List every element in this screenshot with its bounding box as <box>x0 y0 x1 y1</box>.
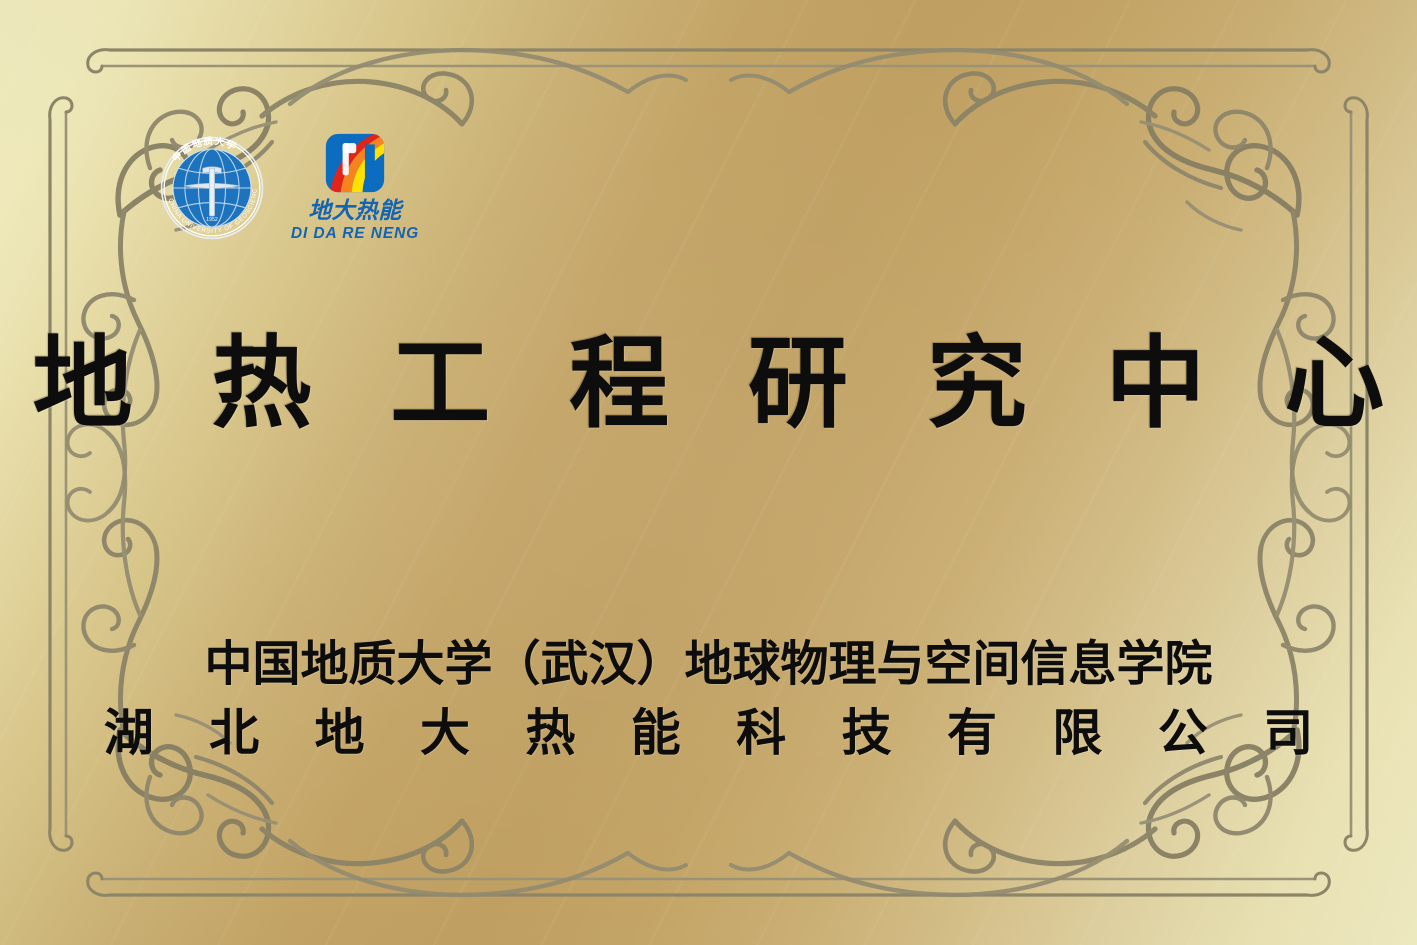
cug-emblem-icon: 中国地质大学 CHINA UNIVERSITY OF GEOSCIENCES 1… <box>160 136 264 240</box>
subtitle-institute: 中国地质大学（武汉）地球物理与空间信息学院 <box>0 636 1417 693</box>
didareneng-chinese-name-icon: 地大热能 <box>286 195 424 225</box>
didareneng-logo: 地大热能 DI DA RE NENG <box>286 132 424 242</box>
page-title: 地 热 工 程 研 究 中 心 <box>0 330 1417 438</box>
subtitle-company: 湖 北 地 大 热 能 科 技 有 限 公 司 <box>0 703 1417 763</box>
svg-text:地大热能: 地大热能 <box>308 198 404 224</box>
svg-text:1952: 1952 <box>206 217 218 223</box>
logo-row: 中国地质大学 CHINA UNIVERSITY OF GEOSCIENCES 1… <box>160 134 424 242</box>
plaque-content: 中国地质大学 CHINA UNIVERSITY OF GEOSCIENCES 1… <box>0 0 1417 945</box>
didareneng-pinyin-label: DI DA RE NENG <box>291 226 419 242</box>
subtitle-block: 中国地质大学（武汉）地球物理与空间信息学院 湖 北 地 大 热 能 科 技 有 … <box>0 636 1417 763</box>
didareneng-mark-icon <box>324 132 386 194</box>
award-plaque: 中国地质大学 CHINA UNIVERSITY OF GEOSCIENCES 1… <box>0 0 1417 945</box>
